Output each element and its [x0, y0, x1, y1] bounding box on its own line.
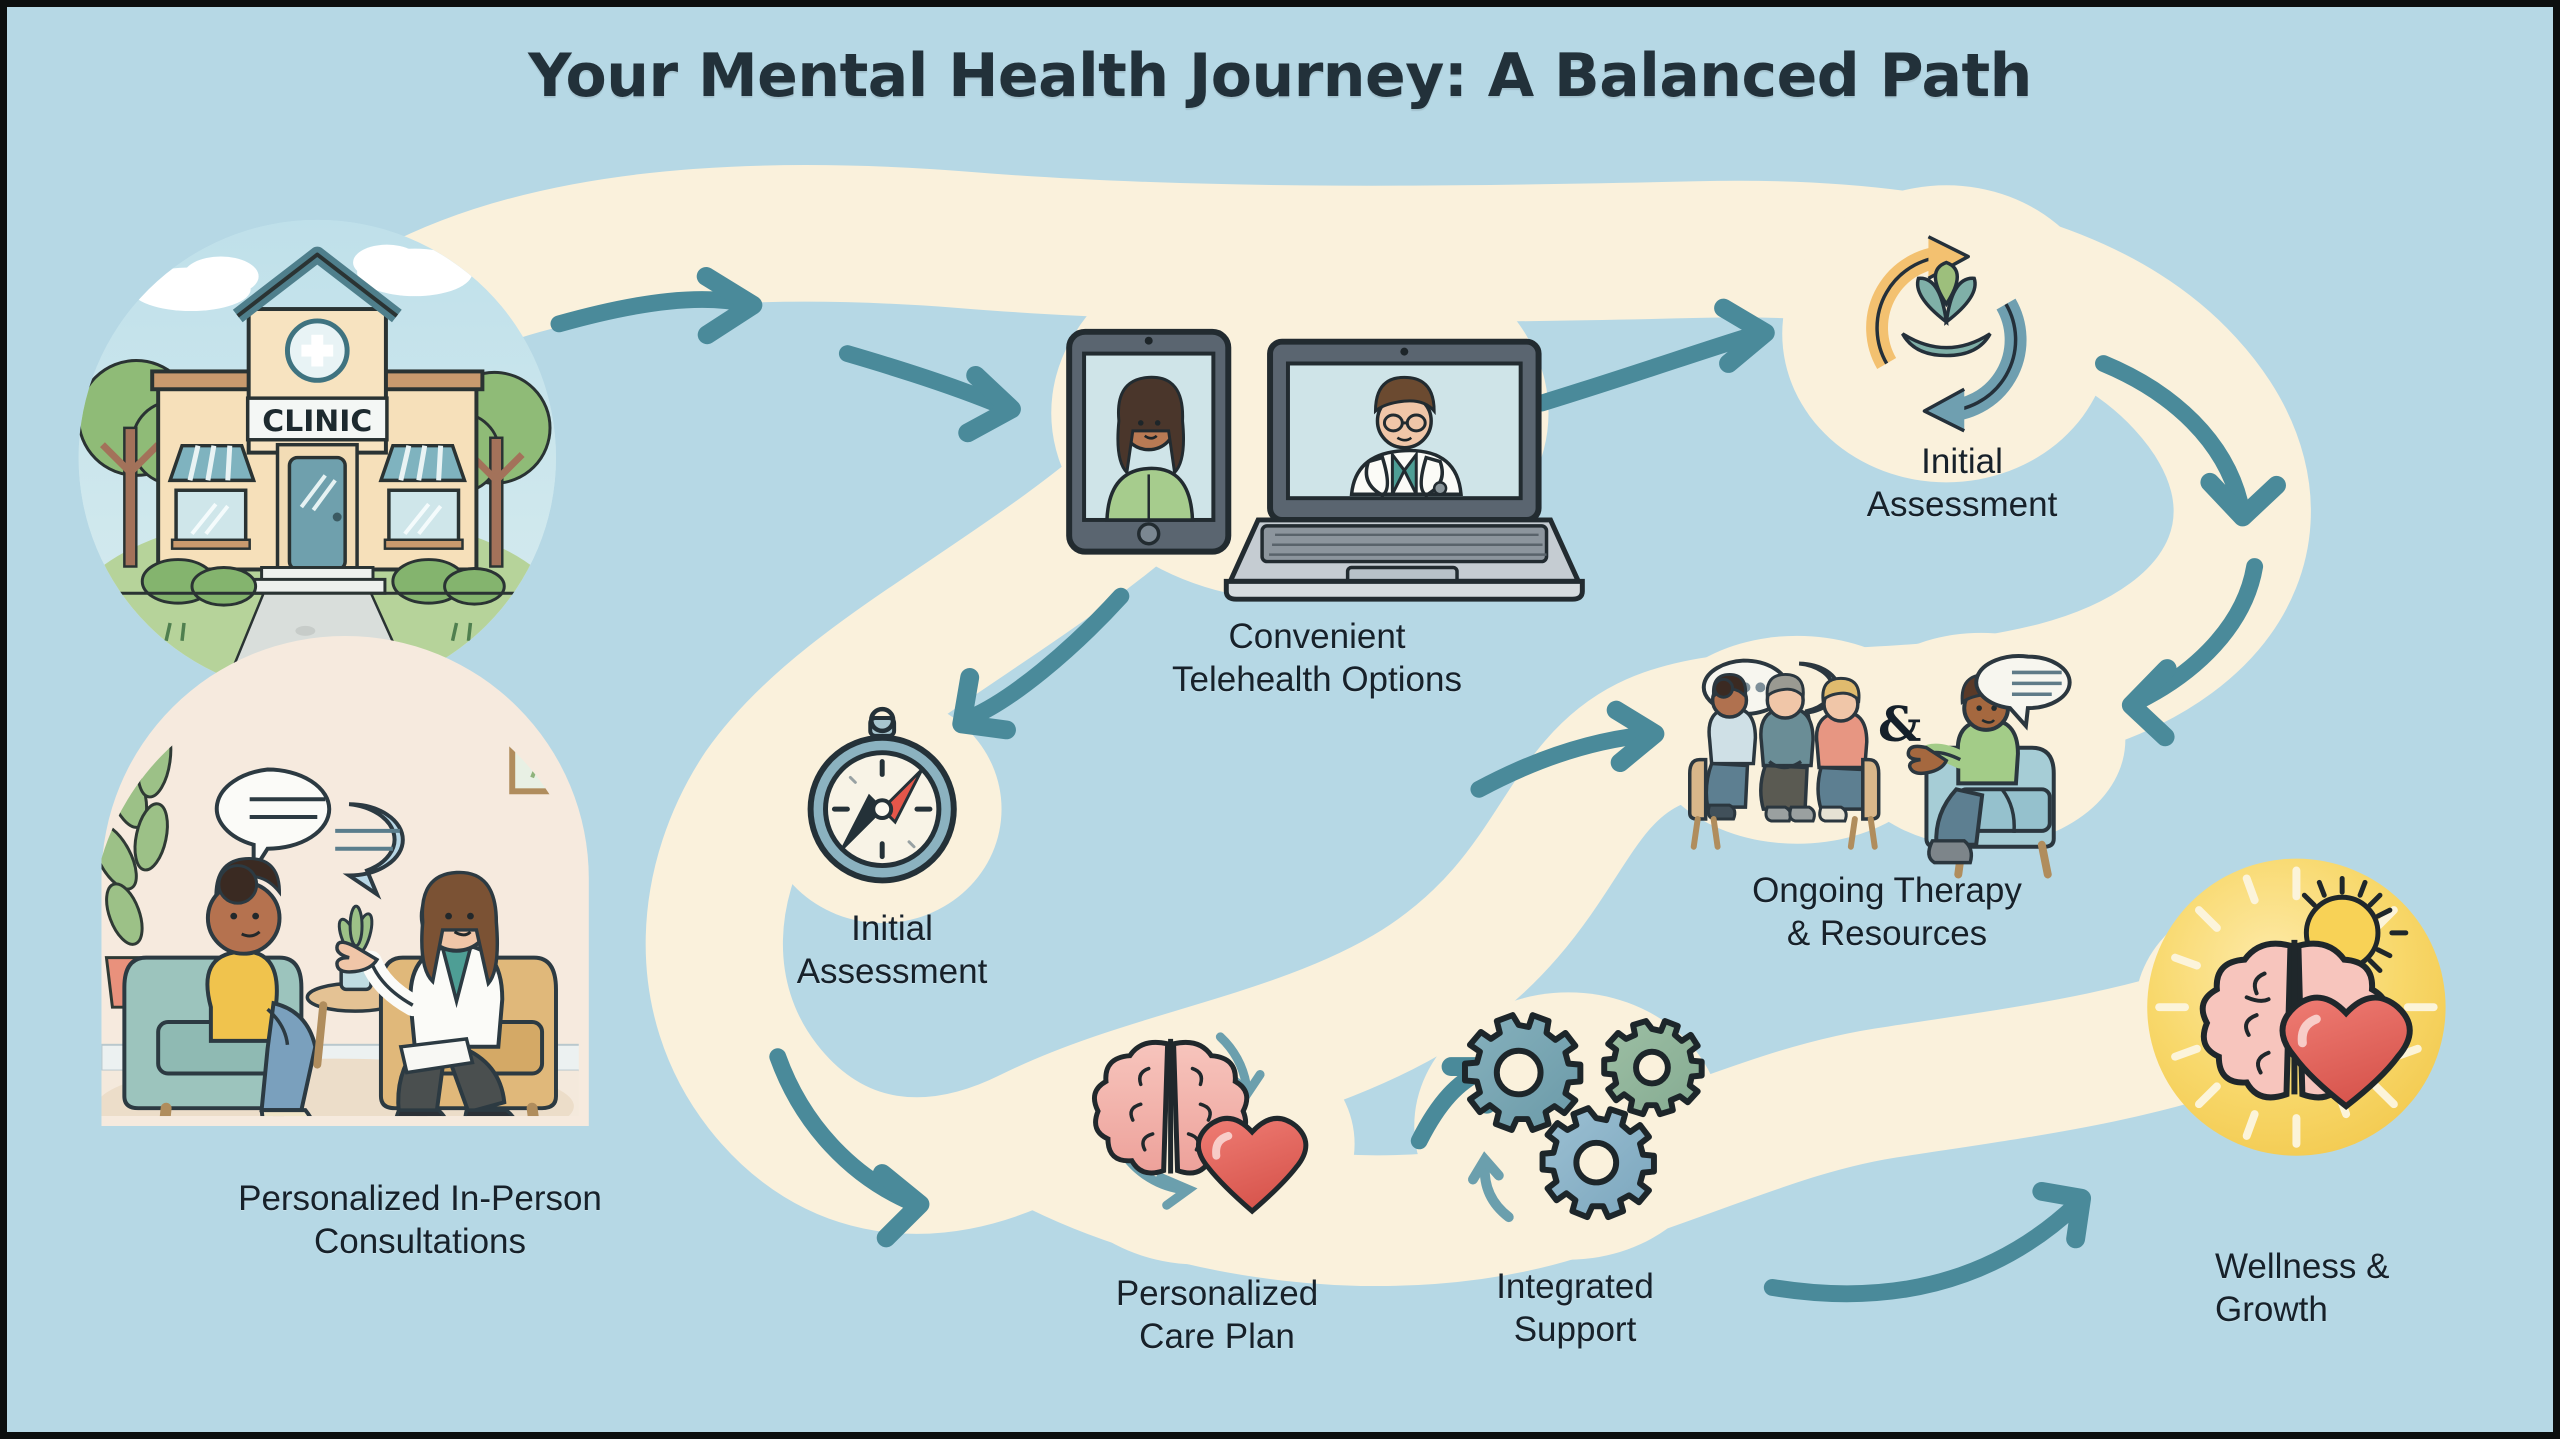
page-title: Your Mental Health Journey: A Balanced P…	[7, 41, 2553, 111]
caption-integrated-support: Integrated Support	[1425, 1265, 1725, 1351]
gear-medium-blue	[1543, 1108, 1654, 1217]
caption-in-person-consultations: Personalized In-Person Consultations	[210, 1177, 630, 1263]
brain-heart-sun-radiant-icon	[2147, 859, 2445, 1156]
caption-wellness-growth: Wellness & Growth	[2215, 1245, 2545, 1331]
caption-personalized-care-plan: Personalized Care Plan	[1047, 1272, 1387, 1358]
gear-large	[1465, 1015, 1580, 1130]
ampersand-connector: &	[1878, 697, 1921, 753]
caption-ongoing-therapy: Ongoing Therapy & Resources	[1647, 869, 2127, 955]
arrow-clinic-to-telehealth-2	[847, 354, 1011, 433]
arrow-support-to-wellness	[1772, 1191, 2081, 1293]
caption-initial-assessment-mid: Initial Assessment	[727, 907, 1057, 993]
caption-initial-assessment-top: Initial Assessment	[1802, 440, 2122, 526]
infographic-canvas: CLINIC	[0, 0, 2560, 1439]
gear-small-green	[1604, 1021, 1701, 1114]
clinic-sign-text: CLINIC	[262, 404, 372, 439]
arrow-telehealth-to-assessment-top	[1542, 308, 1766, 403]
caption-telehealth: Convenient Telehealth Options	[1037, 615, 1597, 701]
therapy-session-illustration	[84, 636, 592, 1156]
